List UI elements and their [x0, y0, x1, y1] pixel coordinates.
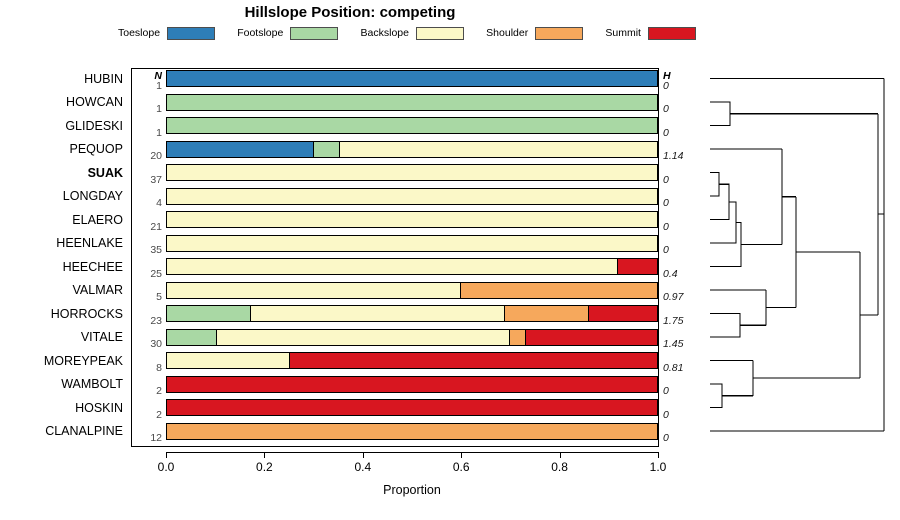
h-value: 0.97	[663, 292, 683, 303]
n-value: 23	[150, 316, 162, 327]
bar-segment-shoulder[interactable]	[167, 424, 657, 439]
n-value: 8	[156, 363, 162, 374]
x-axis-line	[166, 452, 658, 453]
bar-segment-footslope[interactable]	[167, 306, 251, 321]
bar-segment-footslope[interactable]	[314, 142, 339, 157]
n-value: 12	[150, 433, 162, 444]
x-axis-tick	[363, 452, 364, 458]
bar-segment-footslope[interactable]	[167, 95, 657, 110]
n-value: 2	[156, 386, 162, 397]
bar-row[interactable]	[166, 352, 658, 369]
h-value: 0	[663, 104, 669, 115]
legend-entry-toeslope[interactable]: Toeslope	[118, 27, 215, 40]
bar-row[interactable]	[166, 188, 658, 205]
category-label-valmar: VALMAR	[73, 284, 123, 297]
n-value: 20	[150, 151, 162, 162]
h-value: 0	[663, 222, 669, 233]
x-axis-tick	[658, 452, 659, 458]
n-value: 30	[150, 339, 162, 350]
bar-segment-backslope[interactable]	[167, 189, 657, 204]
h-value: 0	[663, 81, 669, 92]
legend-label: Toeslope	[118, 27, 160, 39]
bar-row[interactable]	[166, 94, 658, 111]
legend-swatch-icon	[535, 27, 583, 40]
legend-label: Summit	[605, 27, 641, 39]
n-value: 4	[156, 198, 162, 209]
h-value: 0	[663, 175, 669, 186]
chart-root: Hillslope Position: competing ToeslopeFo…	[0, 0, 900, 520]
bar-row[interactable]	[166, 117, 658, 134]
bar-segment-backslope[interactable]	[251, 306, 505, 321]
bar-segment-backslope[interactable]	[167, 165, 657, 180]
bar-row[interactable]	[166, 141, 658, 158]
category-label-glideski: GLIDESKI	[65, 120, 123, 133]
legend-swatch-icon	[648, 27, 696, 40]
x-axis-tick-label: 0.4	[354, 460, 371, 474]
bar-segment-summit[interactable]	[290, 353, 657, 368]
legend-swatch-icon	[416, 27, 464, 40]
n-value: 1	[156, 104, 162, 115]
legend-label: Backslope	[361, 27, 409, 39]
n-value: 21	[150, 222, 162, 233]
bar-row[interactable]	[166, 399, 658, 416]
h-value: 0	[663, 198, 669, 209]
bar-segment-backslope[interactable]	[167, 236, 657, 251]
h-value: 0	[663, 433, 669, 444]
bar-segment-summit[interactable]	[167, 400, 657, 415]
h-value: 0	[663, 245, 669, 256]
x-axis-tick-label: 0.8	[551, 460, 568, 474]
dendrogram-svg	[700, 60, 895, 460]
bar-segment-toeslope[interactable]	[167, 71, 657, 86]
bar-segment-summit[interactable]	[167, 377, 657, 392]
n-value: 25	[150, 269, 162, 280]
legend-entry-backslope[interactable]: Backslope	[361, 27, 464, 40]
bar-segment-backslope[interactable]	[340, 142, 657, 157]
h-value: 1.75	[663, 316, 683, 327]
h-value: 1.45	[663, 339, 683, 350]
h-value: 1.14	[663, 151, 683, 162]
x-axis-tick-label: 0.2	[256, 460, 273, 474]
n-value: 1	[156, 128, 162, 139]
n-value: 5	[156, 292, 162, 303]
bar-row[interactable]	[166, 70, 658, 87]
h-value: 0	[663, 410, 669, 421]
category-label-moreypeak: MOREYPEAK	[44, 355, 123, 368]
n-column: N 111203742135255233082212	[133, 68, 164, 447]
category-label-heechee: HEECHEE	[63, 261, 123, 274]
bar-segment-summit[interactable]	[526, 330, 657, 345]
bar-segment-toeslope[interactable]	[167, 142, 314, 157]
legend-entry-shoulder[interactable]: Shoulder	[486, 27, 583, 40]
n-value: 2	[156, 410, 162, 421]
category-label-heenlake: HEENLAKE	[56, 237, 123, 250]
n-value: 1	[156, 81, 162, 92]
h-value: 0	[663, 128, 669, 139]
category-label-howcan: HOWCAN	[66, 96, 123, 109]
bar-segment-backslope[interactable]	[217, 330, 510, 345]
bar-segment-summit[interactable]	[618, 259, 657, 274]
h-value: 0.81	[663, 363, 683, 374]
bar-row[interactable]	[166, 305, 658, 322]
bar-row[interactable]	[166, 258, 658, 275]
legend: ToeslopeFootslopeBackslopeShoulderSummit	[118, 25, 696, 41]
bar-row[interactable]	[166, 423, 658, 440]
bar-row[interactable]	[166, 235, 658, 252]
h-value: 0.4	[663, 269, 678, 280]
legend-label: Shoulder	[486, 27, 528, 39]
bar-segment-backslope[interactable]	[167, 283, 461, 298]
x-axis-title: Proportion	[166, 483, 658, 497]
legend-swatch-icon	[290, 27, 338, 40]
category-label-vitale: VITALE	[81, 331, 123, 344]
page-title: Hillslope Position: competing	[0, 4, 700, 21]
category-label-clanalpine: CLANALPINE	[45, 425, 123, 438]
bar-segment-shoulder[interactable]	[510, 330, 526, 345]
bar-segment-backslope[interactable]	[167, 259, 618, 274]
bar-segment-shoulder[interactable]	[505, 306, 589, 321]
x-axis-tick-label: 0.0	[158, 460, 175, 474]
x-axis-tick-label: 0.6	[453, 460, 470, 474]
h-column: H 0001.1400000.40.971.751.450.81000	[660, 68, 700, 447]
category-axis-labels: HUBINHOWCANGLIDESKIPEQUOPSUAKLONGDAYELAE…	[0, 68, 127, 447]
dendrogram	[700, 60, 895, 460]
category-label-elaero: ELAERO	[72, 214, 123, 227]
bar-segment-backslope[interactable]	[167, 212, 657, 227]
n-value: 37	[150, 175, 162, 186]
x-axis-tick	[166, 452, 167, 458]
legend-entry-footslope[interactable]: Footslope	[237, 27, 338, 40]
bar-row[interactable]	[166, 211, 658, 228]
bar-segment-footslope[interactable]	[167, 118, 657, 133]
bar-segment-summit[interactable]	[589, 306, 657, 321]
x-axis-tick	[560, 452, 561, 458]
legend-swatch-icon	[167, 27, 215, 40]
bar-row[interactable]	[166, 164, 658, 181]
bar-segment-footslope[interactable]	[167, 330, 217, 345]
n-value: 35	[150, 245, 162, 256]
x-axis-tick-label: 1.0	[650, 460, 667, 474]
h-value: 0	[663, 386, 669, 397]
category-label-longday: LONGDAY	[63, 190, 123, 203]
category-label-horrocks: HORROCKS	[51, 308, 123, 321]
category-label-hubin: HUBIN	[84, 73, 123, 86]
legend-label: Footslope	[237, 27, 283, 39]
bar-row[interactable]	[166, 376, 658, 393]
category-label-suak: SUAK	[88, 167, 123, 180]
category-label-hoskin: HOSKIN	[75, 402, 123, 415]
legend-entry-summit[interactable]: Summit	[605, 27, 696, 40]
x-axis-tick	[461, 452, 462, 458]
category-label-wambolt: WAMBOLT	[61, 378, 123, 391]
bar-row[interactable]	[166, 282, 658, 299]
bar-segment-backslope[interactable]	[167, 353, 290, 368]
category-label-pequop: PEQUOP	[70, 143, 124, 156]
bar-segment-shoulder[interactable]	[461, 283, 657, 298]
bar-row[interactable]	[166, 329, 658, 346]
x-axis-tick	[264, 452, 265, 458]
